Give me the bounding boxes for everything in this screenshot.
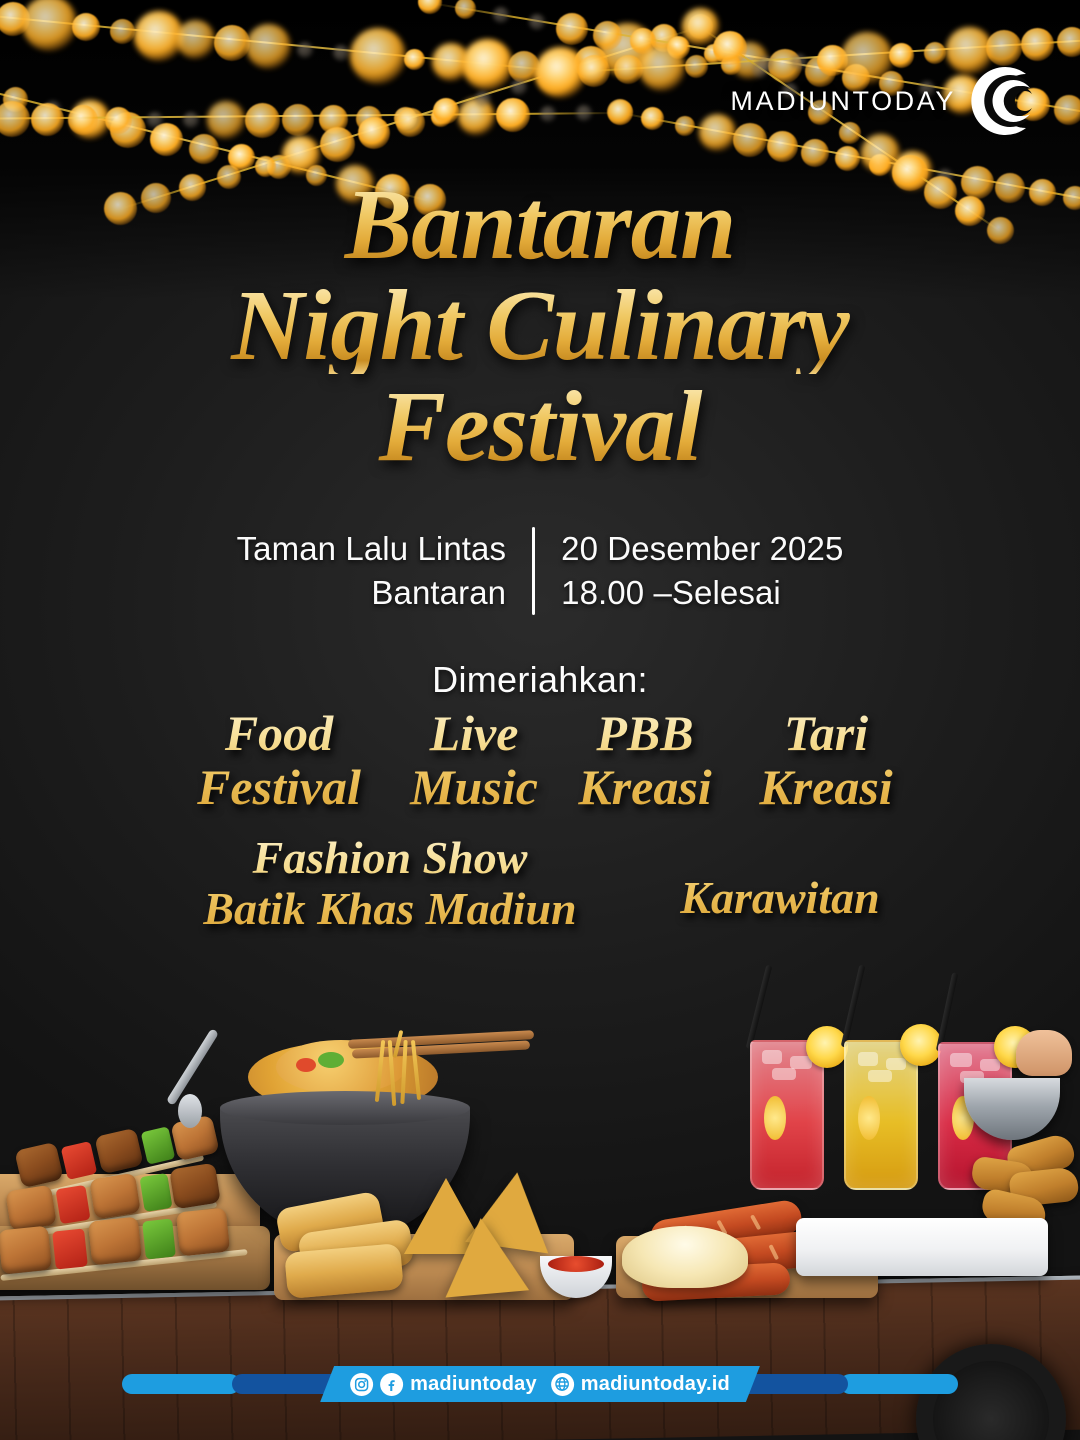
event-time: 18.00 –Selesai (561, 571, 843, 615)
instagram-icon[interactable] (350, 1373, 373, 1396)
lineup-item-line1: Tari (736, 708, 916, 758)
footer-bar-segment-light-right (840, 1374, 958, 1394)
lineup-item-line2: Music (394, 762, 554, 812)
lineup-item-live-music: Live Music (394, 708, 554, 812)
title-line-2: Night Culinary (0, 277, 1080, 374)
lineup-item-line1: Live (394, 708, 554, 758)
brand-logo: MADIUNTODAY (730, 62, 1044, 140)
lineup-item-line2: Festival (164, 762, 394, 812)
footer-social-bar: madiuntoday madiuntoday.id (0, 1366, 1080, 1402)
title-line-1: Bantaran (0, 176, 1080, 273)
venue-block: Taman Lalu Lintas Bantaran (237, 527, 533, 615)
website-group[interactable]: madiuntoday.id (551, 1373, 730, 1396)
lineup-item-line1: Karawitan (680, 872, 879, 923)
lineup-row-1: Food Festival Live Music PBB Kreasi Tari… (0, 708, 1080, 812)
lineup-item-line1: PBB (554, 708, 736, 758)
lineup-item-food-festival: Food Festival (164, 708, 394, 812)
title-line-3: Festival (0, 378, 1080, 475)
social-group[interactable]: madiuntoday (350, 1373, 537, 1396)
lineup-item-line2: Kreasi (736, 762, 916, 812)
event-title: Bantaran Night Culinary Festival (0, 176, 1080, 475)
lineup-item-tari-kreasi: Tari Kreasi (736, 708, 916, 812)
cupcake-tray (796, 1218, 1048, 1276)
venue-line-2: Bantaran (237, 571, 507, 615)
lineup-item-line1: Fashion Show (150, 835, 630, 881)
lineup-item-line2: Batik Khas Madiun (150, 886, 630, 932)
lemon-garnish (806, 1026, 848, 1068)
lineup-label: Dimeriahkan: (0, 659, 1080, 701)
crescent-swoosh-icon (966, 62, 1044, 140)
lineup-item-karawitan: Karawitan (630, 835, 930, 921)
footer-bar-segment-light-left (122, 1374, 240, 1394)
datetime-block: 20 Desember 2025 18.00 –Selesai (535, 527, 843, 615)
lemon-garnish (900, 1024, 942, 1066)
lineup-item-line1: Food (164, 708, 394, 758)
event-info-row: Taman Lalu Lintas Bantaran 20 Desember 2… (0, 527, 1080, 615)
facebook-icon[interactable] (380, 1373, 403, 1396)
lineup-row-2: Fashion Show Batik Khas Madiun Karawitan (0, 835, 1080, 932)
globe-icon[interactable] (551, 1373, 574, 1396)
website-text: madiuntoday.id (581, 1373, 730, 1396)
food-photography-scene (0, 920, 1080, 1440)
shredded-cheese (622, 1226, 748, 1288)
logo-wordmark: MADIUNTODAY (730, 86, 956, 117)
hand-reaching (1016, 1030, 1072, 1076)
lineup-item-pbb-kreasi: PBB Kreasi (554, 708, 736, 812)
venue-line-1: Taman Lalu Lintas (237, 527, 507, 571)
lineup-item-line2: Kreasi (554, 762, 736, 812)
poster-canvas: MADIUNTODAY Bantaran Night Culinary Fest… (0, 0, 1080, 1440)
lineup-item-fashion-show: Fashion Show Batik Khas Madiun (150, 835, 630, 932)
social-handle-text: madiuntoday (410, 1373, 537, 1396)
footer-handle-plate: madiuntoday madiuntoday.id (320, 1366, 760, 1402)
event-date: 20 Desember 2025 (561, 527, 843, 571)
